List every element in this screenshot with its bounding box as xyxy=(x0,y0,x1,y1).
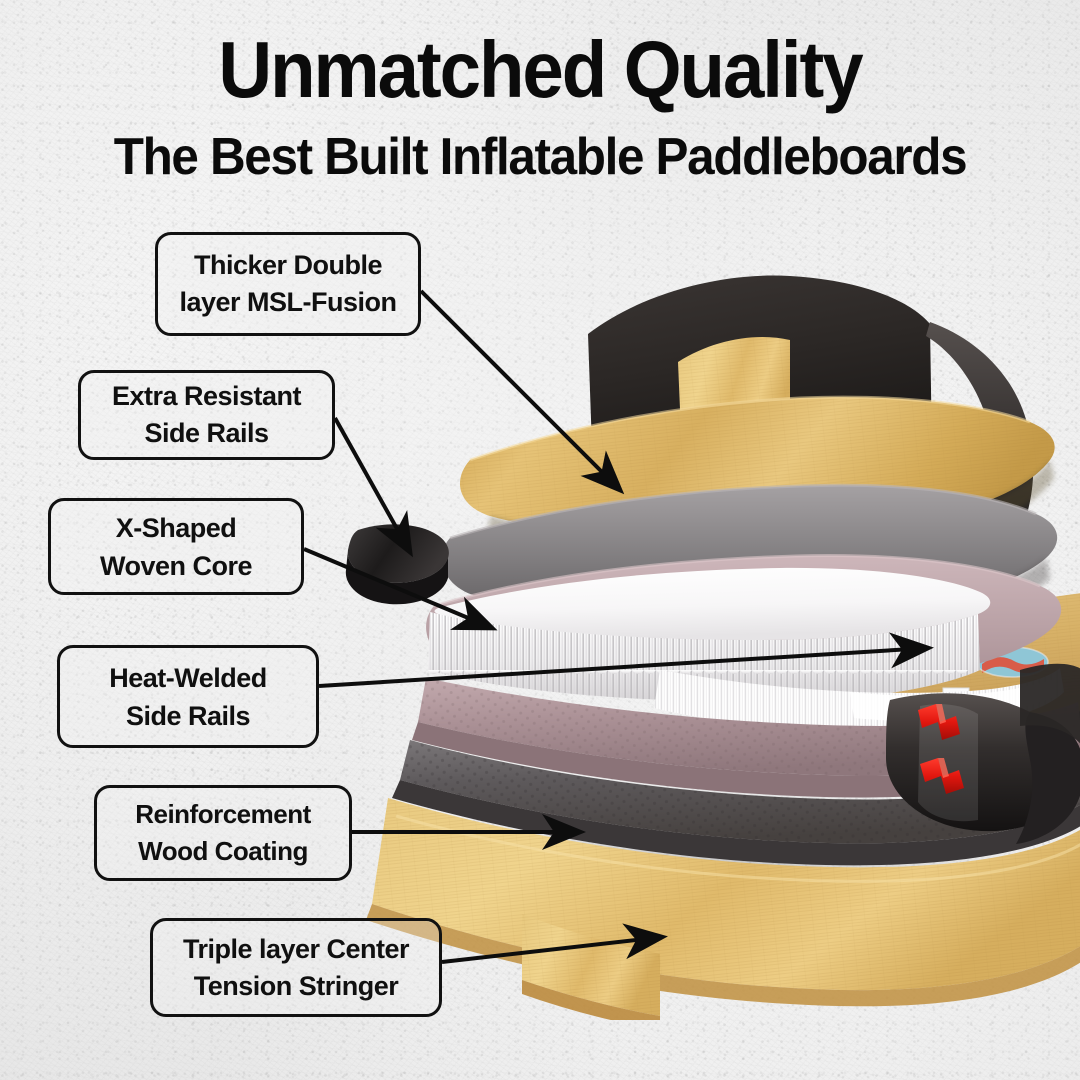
callout-x-shaped-woven-core[interactable]: X-Shaped Woven Core xyxy=(48,498,304,595)
callout-extra-resistant-side-rails[interactable]: Extra Resistant Side Rails xyxy=(78,370,335,460)
callout-line-2: Side Rails xyxy=(126,697,250,735)
callout-line-1: Reinforcement xyxy=(135,796,311,833)
callout-line-2: Wood Coating xyxy=(138,833,308,870)
page-title: Unmatched Quality xyxy=(38,28,1042,112)
callout-heat-welded-side-rails[interactable]: Heat-Welded Side Rails xyxy=(57,645,319,748)
layer-dark-side-rail-left xyxy=(346,524,449,604)
callout-line-2: Tension Stringer xyxy=(194,968,399,1005)
callout-line-2: Side Rails xyxy=(144,415,268,452)
callout-triple-layer-center-tension-stringer[interactable]: Triple layer Center Tension Stringer xyxy=(150,918,442,1017)
paddleboard-cutaway-illustration xyxy=(330,240,1080,1020)
callout-line-2: layer MSL-Fusion xyxy=(179,284,396,321)
callout-line-1: Thicker Double xyxy=(194,247,382,284)
callout-line-1: X-Shaped xyxy=(116,509,237,547)
page-subtitle: The Best Built Inflatable Paddleboards xyxy=(27,128,1053,186)
callout-line-1: Extra Resistant xyxy=(112,378,301,415)
callout-thicker-double-layer-msl-fusion[interactable]: Thicker Double layer MSL-Fusion xyxy=(155,232,421,336)
callout-line-2: Woven Core xyxy=(100,547,252,585)
callout-line-1: Triple layer Center xyxy=(183,931,409,968)
callout-reinforcement-wood-coating[interactable]: Reinforcement Wood Coating xyxy=(94,785,352,881)
callout-line-1: Heat-Welded xyxy=(109,659,267,697)
